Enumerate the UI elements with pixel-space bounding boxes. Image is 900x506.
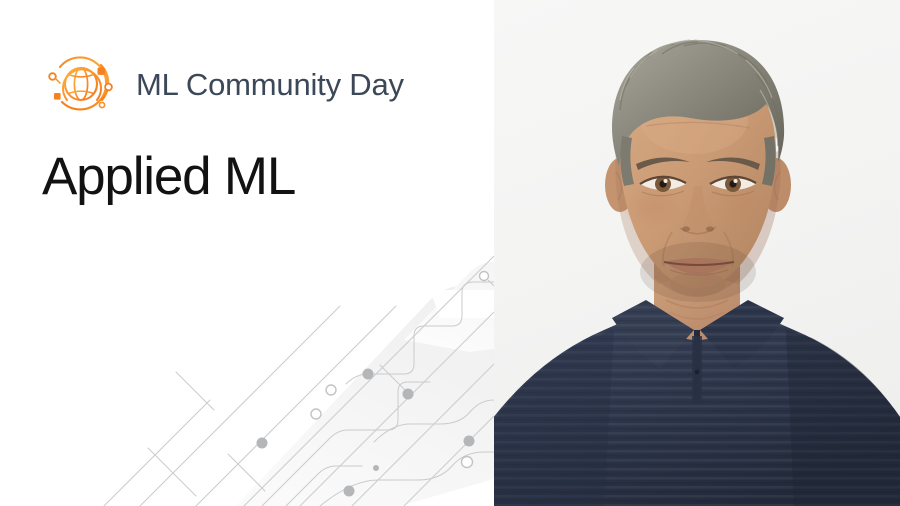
decorative-band-large (236, 286, 494, 506)
circuit-node-filled (257, 369, 475, 497)
circuit-rounded-traces (262, 282, 494, 506)
globe-orbit-icon (40, 45, 120, 123)
speaker-photo-panel (494, 0, 900, 506)
circuit-diagonal-lines (104, 256, 494, 506)
brand-wordmark: ML Community Day (136, 69, 404, 100)
speaker-headshot (494, 0, 900, 506)
portrait-stubble (640, 242, 756, 302)
left-content-panel: ML Community Day Applied ML (0, 0, 494, 506)
circuit-node-hollow (311, 272, 489, 468)
circuit-node-stems (148, 365, 410, 496)
slide-root: ML Community Day Applied ML (0, 0, 900, 506)
brand-lockup: ML Community Day (40, 45, 404, 123)
page-title: Applied ML (42, 147, 295, 206)
decorative-band-upper (404, 262, 494, 352)
